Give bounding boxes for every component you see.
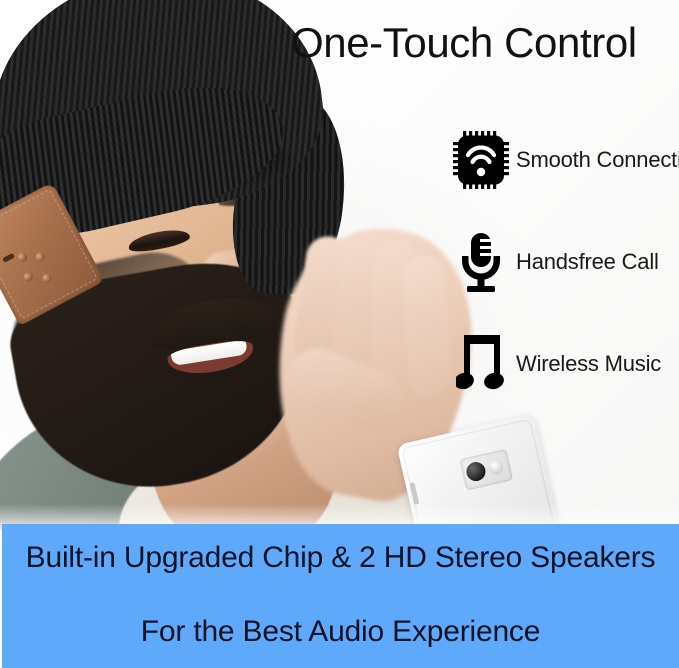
- finger: [402, 255, 451, 397]
- bottom-promo-banner: Built-in Upgraded Chip & 2 HD Stereo Spe…: [2, 524, 679, 668]
- feature-label: Handsfree Call: [516, 249, 659, 275]
- camera-lens-icon: [465, 460, 488, 483]
- page-title: One-Touch Control: [291, 21, 679, 65]
- feature-label: Wireless Music: [516, 351, 661, 377]
- feature-list: Smooth Connectivity: [452, 126, 679, 432]
- feature-label: Smooth Connectivity: [516, 147, 679, 173]
- banner-subheadline: For the Best Audio Experience: [141, 614, 540, 650]
- banner-headline: Built-in Upgraded Chip & 2 HD Stereo Spe…: [26, 540, 656, 576]
- feature-row-handsfree-call: Handsfree Call: [452, 228, 679, 296]
- microphone-icon: [452, 232, 510, 292]
- chip-wifi-icon: [452, 129, 510, 191]
- camera-flash-icon: [487, 458, 504, 476]
- feature-row-smooth-connectivity: Smooth Connectivity: [452, 126, 679, 194]
- music-note-icon: [452, 335, 510, 393]
- feature-row-wireless-music: Wireless Music: [452, 330, 679, 398]
- product-marketing-image: One-Touch Control: [0, 0, 679, 668]
